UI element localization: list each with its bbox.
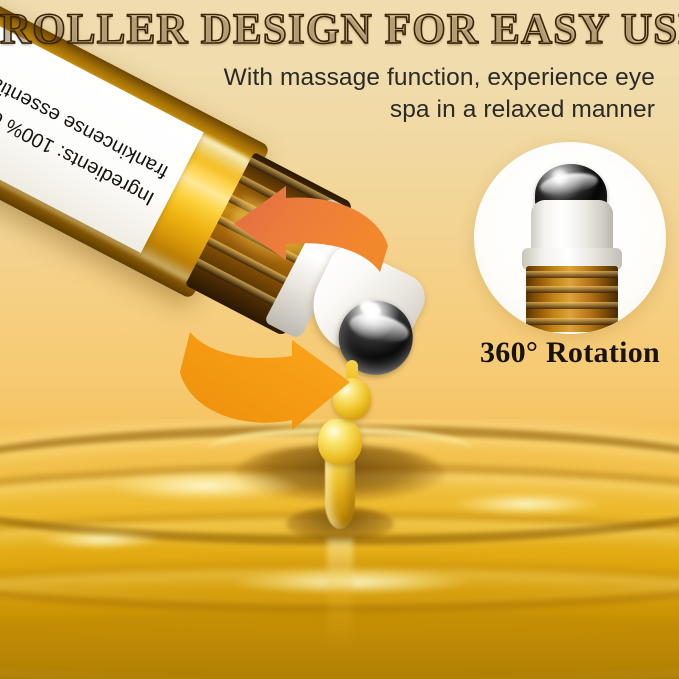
subtitle-line-1: With massage function, experience eye <box>195 62 655 94</box>
inset-bottle-neck <box>526 266 618 332</box>
oil-droplet-falling <box>333 360 371 420</box>
oil-ripple-surface <box>0 419 679 679</box>
subtitle: With massage function, experience eye sp… <box>195 62 655 127</box>
oil-rebound-bead <box>318 419 362 465</box>
droplet-reflection <box>327 537 353 655</box>
subtitle-line-2: spa in a relaxed manner <box>195 94 655 126</box>
product-feature-banner: Ingredients: 100% organic c frankincense… <box>0 0 679 679</box>
roller-closeup-inset <box>474 142 666 334</box>
rotation-caption: 360° Rotation <box>440 336 679 370</box>
droplet-bead <box>333 378 371 420</box>
headline: ROLLER DESIGN FOR EASY USE <box>0 8 679 51</box>
